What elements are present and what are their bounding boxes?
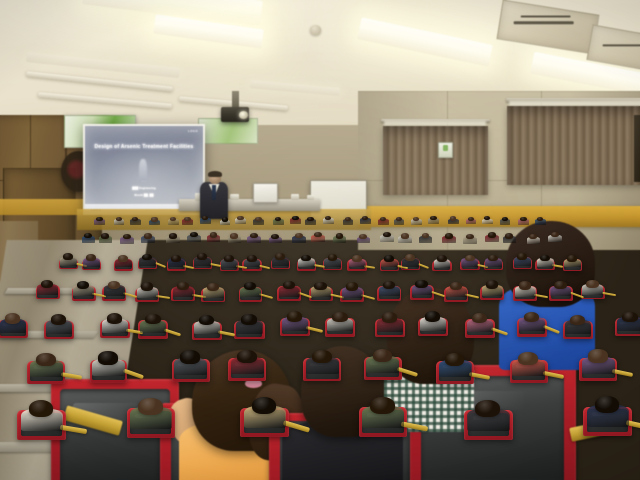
attendee-head <box>345 217 351 221</box>
attendee-head <box>466 234 474 239</box>
attendee-head <box>352 255 362 262</box>
attendee-head <box>177 282 189 290</box>
attendee-head <box>247 255 257 262</box>
attendee-head <box>325 216 331 220</box>
attendee-head <box>567 255 577 262</box>
attendee-head <box>425 311 440 321</box>
attendee-head <box>346 282 358 290</box>
attendee-head <box>275 253 285 260</box>
attendee-head <box>252 397 277 414</box>
attendee-head <box>295 233 303 238</box>
slide-logo-top-right: LOGO <box>188 129 198 133</box>
attendee-head <box>108 281 120 289</box>
attendee-head <box>502 217 508 221</box>
attendee-head <box>359 234 367 239</box>
attendee-head <box>138 398 163 415</box>
attendee-head <box>145 314 160 324</box>
attendee-head <box>520 217 526 221</box>
attendee-head <box>241 314 256 324</box>
attendee-head <box>197 253 207 260</box>
attendee-head <box>98 351 117 364</box>
attendee-head <box>170 217 176 221</box>
slide-title: Design of Arsenic Treatment Facilities <box>90 144 198 150</box>
attendee-head <box>328 254 338 261</box>
attendee-head <box>475 400 500 417</box>
attendee-head <box>472 313 487 323</box>
attendee-head <box>237 350 256 363</box>
attendee-head <box>141 282 153 290</box>
attendee-head <box>292 216 298 220</box>
table-item-4 <box>291 194 299 200</box>
slide-subtitle-2: ███ Engineering <box>85 187 203 190</box>
attendee-head <box>63 253 73 260</box>
attendee-head <box>287 311 302 321</box>
attendee-head <box>540 255 550 262</box>
attendee-head <box>430 216 436 220</box>
attendee-head <box>384 255 394 262</box>
attendee-head <box>529 234 537 239</box>
attendee-head <box>312 350 331 363</box>
attendee-head <box>370 397 395 414</box>
attendee-head <box>271 234 279 239</box>
attendee-head <box>524 312 539 322</box>
attendee-head <box>465 255 475 262</box>
attendee-head <box>230 233 238 238</box>
attendee-head <box>405 254 415 261</box>
attendee-head <box>151 217 157 221</box>
attendee-head <box>171 255 181 262</box>
curtain-right-window[interactable] <box>507 106 640 185</box>
attendee-head <box>86 254 96 261</box>
attendee-head <box>250 233 258 238</box>
attendee-head <box>123 234 131 239</box>
attendee-head <box>199 315 214 325</box>
attendee-head <box>537 217 543 221</box>
attendee-head <box>96 217 102 221</box>
attendee-head <box>505 233 513 238</box>
window-gap-dark <box>634 115 640 182</box>
attendee-head <box>190 232 198 237</box>
attendee-head <box>450 216 456 220</box>
attendee-head <box>169 233 177 238</box>
attendee-head <box>595 396 620 413</box>
attendee-head <box>551 232 559 237</box>
lecture-hall-photo: Design of Arsenic Treatment Facilities ·… <box>0 0 640 480</box>
attendee-head <box>314 232 322 237</box>
attendee-head <box>184 217 190 221</box>
attendee-head <box>517 253 527 260</box>
attendee-head <box>224 255 234 262</box>
attendee-head <box>486 280 498 288</box>
attendee-head <box>255 217 261 221</box>
table-item-5 <box>307 195 313 200</box>
attendee-head <box>207 283 219 291</box>
attendee-head <box>5 313 20 323</box>
slide-graphic-tower <box>139 159 147 182</box>
attendee-head <box>401 233 409 238</box>
wall-switch-plate[interactable] <box>438 142 452 158</box>
attendee-head <box>382 312 397 322</box>
attendee-head <box>570 315 585 325</box>
attendee-head <box>307 217 313 221</box>
attendee-head <box>36 353 55 366</box>
attendee-head <box>144 233 152 238</box>
slide-subtitle-1: · · · <box>85 180 203 183</box>
attendee-head <box>77 281 89 289</box>
curtain-left-window[interactable] <box>383 126 488 196</box>
attendee-head <box>383 232 391 237</box>
attendee-head <box>101 233 109 238</box>
table-monitor <box>253 183 278 202</box>
attendee-head <box>84 233 92 238</box>
attendee-head <box>554 281 566 289</box>
attendee-head <box>373 349 392 362</box>
attendee-head <box>107 313 122 323</box>
attendee-head <box>51 314 66 324</box>
attendee-head <box>488 232 496 237</box>
projector-lens <box>239 111 249 118</box>
attendee-head <box>41 280 53 288</box>
table-item-3 <box>230 194 239 200</box>
attendee-head <box>210 232 218 237</box>
attendee-head <box>237 216 243 220</box>
attendee-head <box>283 281 295 289</box>
attendee-head <box>445 233 453 238</box>
presenter-hair <box>208 171 222 177</box>
attendee-head <box>180 350 199 363</box>
attendee-head <box>622 312 637 322</box>
presenter-tie <box>212 185 216 200</box>
attendee-head <box>519 281 531 289</box>
attendee-head <box>222 217 228 221</box>
attendee-head <box>332 312 347 322</box>
attendee-head <box>314 282 326 290</box>
attendee-head <box>586 280 598 288</box>
attendee-head <box>437 255 447 262</box>
attendee-head <box>380 217 386 221</box>
attendee-head <box>383 281 395 289</box>
attendee-head <box>29 400 54 417</box>
sprinkler-head <box>310 25 321 35</box>
attendee-head <box>588 349 607 362</box>
attendee-head <box>518 352 537 365</box>
slide-subtitle-3: Month ██, ██ <box>85 194 203 197</box>
attendee-head <box>336 233 344 238</box>
attendee-head <box>142 254 152 261</box>
attendee-head <box>415 280 427 288</box>
attendee-head <box>468 217 474 221</box>
attendee-head <box>118 255 128 262</box>
attendee-head <box>488 255 498 262</box>
attendee-head <box>450 282 462 290</box>
attendee-head <box>445 353 464 366</box>
